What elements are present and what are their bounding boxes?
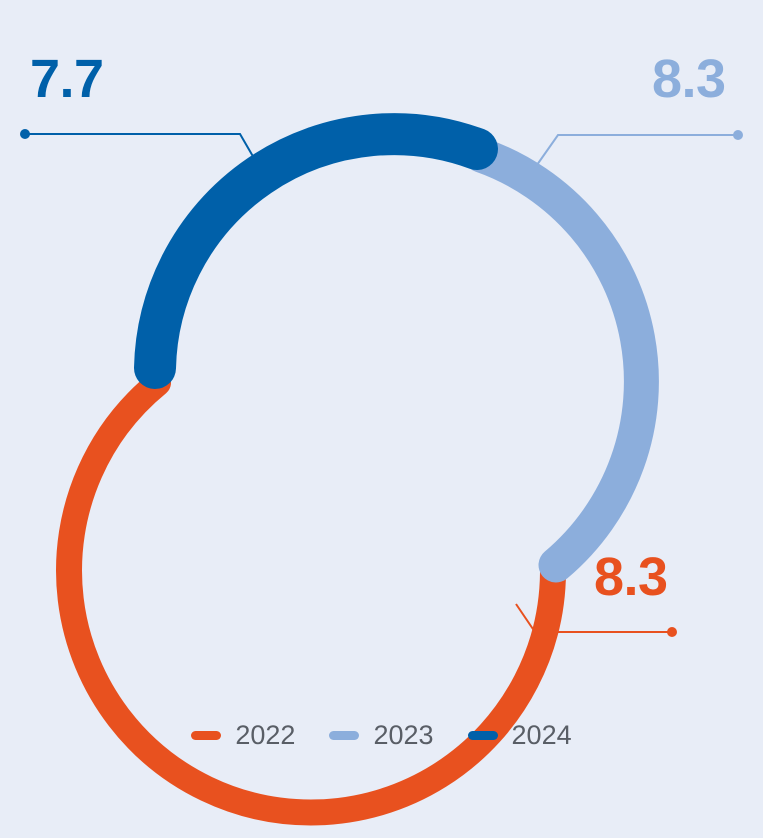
leader-line-2024 bbox=[20, 129, 262, 172]
donut-arc-2024[interactable] bbox=[155, 134, 477, 368]
legend-label-2022: 2022 bbox=[235, 722, 295, 749]
chart-legend: 2022 2023 2024 bbox=[0, 722, 763, 749]
value-label-2024: 7.7 bbox=[30, 52, 104, 106]
legend-label-2023: 2023 bbox=[373, 722, 433, 749]
donut-arc-2023[interactable] bbox=[481, 155, 641, 565]
legend-swatch-icon-2022 bbox=[191, 731, 221, 740]
legend-item-2023[interactable]: 2023 bbox=[329, 722, 433, 749]
legend-item-2024[interactable]: 2024 bbox=[468, 722, 572, 749]
donut-arcs bbox=[69, 134, 641, 812]
value-label-2023: 8.3 bbox=[652, 52, 726, 106]
legend-item-2022[interactable]: 2022 bbox=[191, 722, 295, 749]
donut-chart-canvas bbox=[0, 0, 763, 838]
value-label-2022: 8.3 bbox=[594, 550, 668, 604]
legend-swatch-icon-2024 bbox=[468, 731, 498, 740]
leader-line-2023 bbox=[532, 130, 743, 172]
donut-chart: 7.7 8.3 8.3 2022 2023 2024 bbox=[0, 0, 763, 838]
legend-swatch-icon-2023 bbox=[329, 731, 359, 740]
legend-label-2024: 2024 bbox=[512, 722, 572, 749]
